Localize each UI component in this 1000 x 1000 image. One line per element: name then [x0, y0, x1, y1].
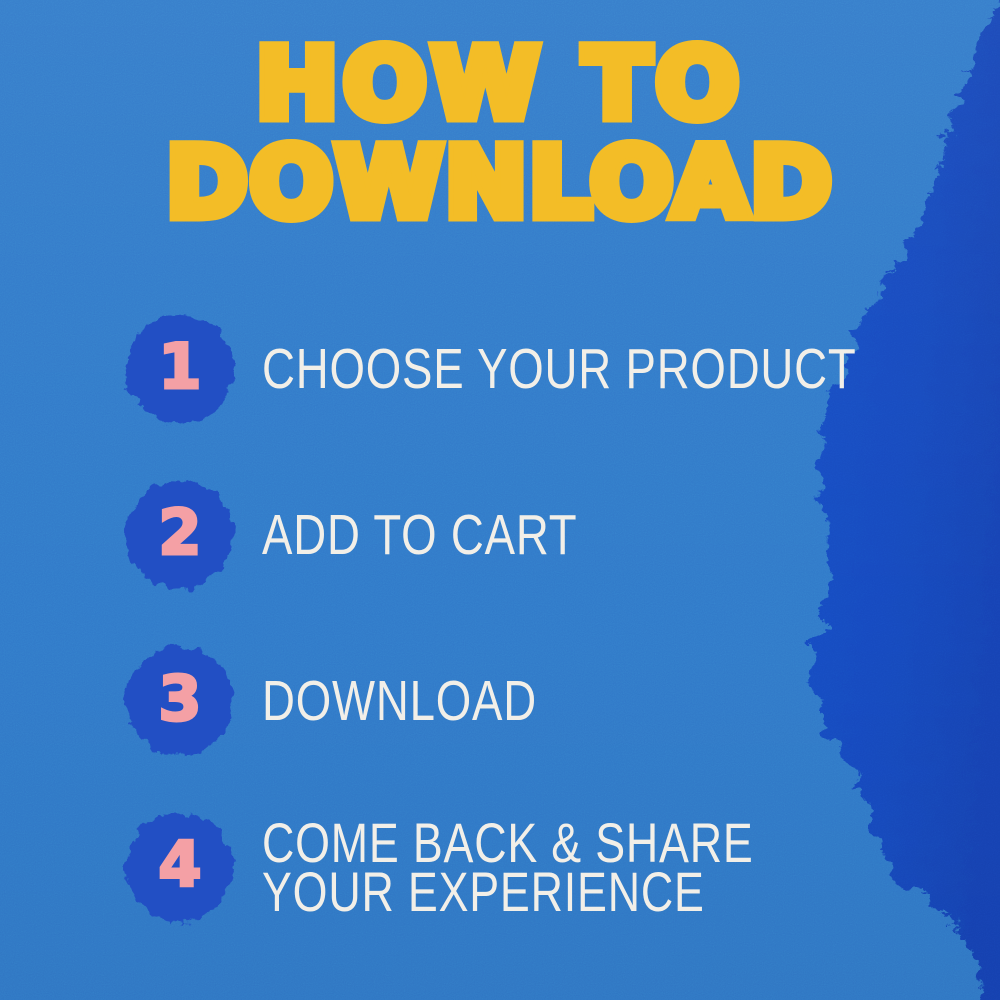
step-number-4: 4	[158, 834, 201, 896]
step-badge-1: 1	[120, 309, 240, 429]
step-number-2: 2	[158, 502, 201, 564]
step-number-3: 3	[158, 668, 201, 730]
step-label-3: DOWNLOAD	[262, 677, 537, 725]
step-badge-3: 3	[120, 641, 240, 761]
step-number-1: 1	[158, 336, 201, 398]
step-item-2: 2 ADD TO CART	[0, 452, 1000, 618]
steps-list: 1 CHOOSE YOUR PRODUCT	[0, 286, 1000, 950]
step-label-4-line-2: YOUR EXPERIENCE	[262, 860, 705, 923]
step-item-4: 4 COME BACK & SHAREYOUR EXPERIENCE	[0, 784, 1000, 950]
title-line-how-to: HOW TO	[0, 40, 1000, 129]
step-label-1: CHOOSE YOUR PRODUCT	[262, 345, 857, 393]
step-item-1: 1 CHOOSE YOUR PRODUCT	[0, 286, 1000, 452]
step-badge-4: 4	[120, 807, 240, 927]
step-item-3: 3 DOWNLOAD	[0, 618, 1000, 784]
page-title: HOW TO DOWNLOAD	[0, 40, 1000, 229]
step-badge-2: 2	[120, 475, 240, 595]
step-label-2: ADD TO CART	[262, 511, 577, 559]
step-label-4: COME BACK & SHAREYOUR EXPERIENCE	[262, 818, 754, 916]
title-line-download: DOWNLOAD	[0, 139, 1000, 228]
how-to-download-poster: HOW TO DOWNLOAD 1	[0, 0, 1000, 1000]
